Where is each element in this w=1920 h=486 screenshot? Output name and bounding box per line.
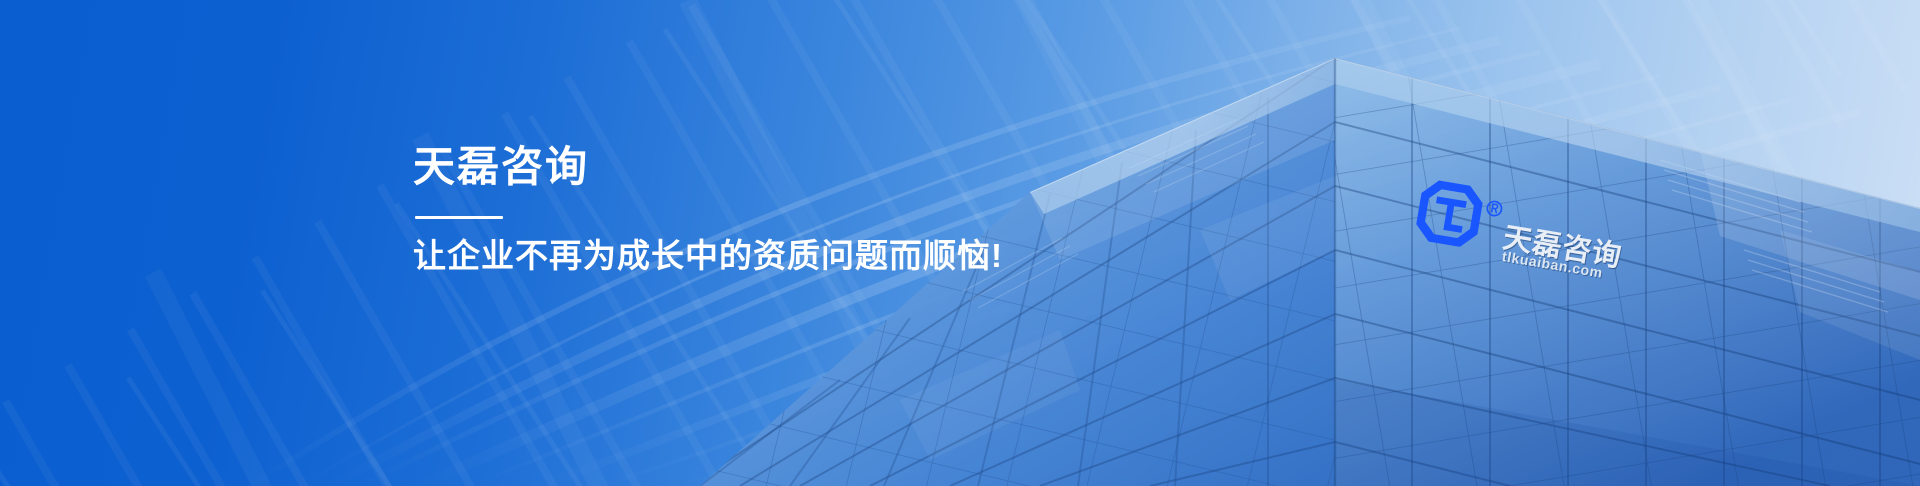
hero-copy: 天磊咨询 让企业不再为成长中的资质问题而顺恼! (413, 146, 1173, 275)
tl-monogram-logo-icon (1414, 178, 1485, 249)
signage-company-name: 天磊咨询 (1500, 214, 1625, 275)
page-title: 天磊咨询 (413, 146, 1173, 188)
signage-website: tlkuaiban.com (1501, 248, 1604, 281)
title-divider (415, 216, 503, 219)
hero-subtitle: 让企业不再为成长中的资质问题而顺恼! (413, 237, 1173, 275)
hero-banner: 天磊咨询 让企业不再为成长中的资质问题而顺恼! 天磊咨询 tlkuaiban.c… (0, 0, 1920, 486)
registered-trademark-icon (1485, 199, 1505, 219)
building-signage: 天磊咨询 tlkuaiban.com (1399, 178, 1651, 364)
